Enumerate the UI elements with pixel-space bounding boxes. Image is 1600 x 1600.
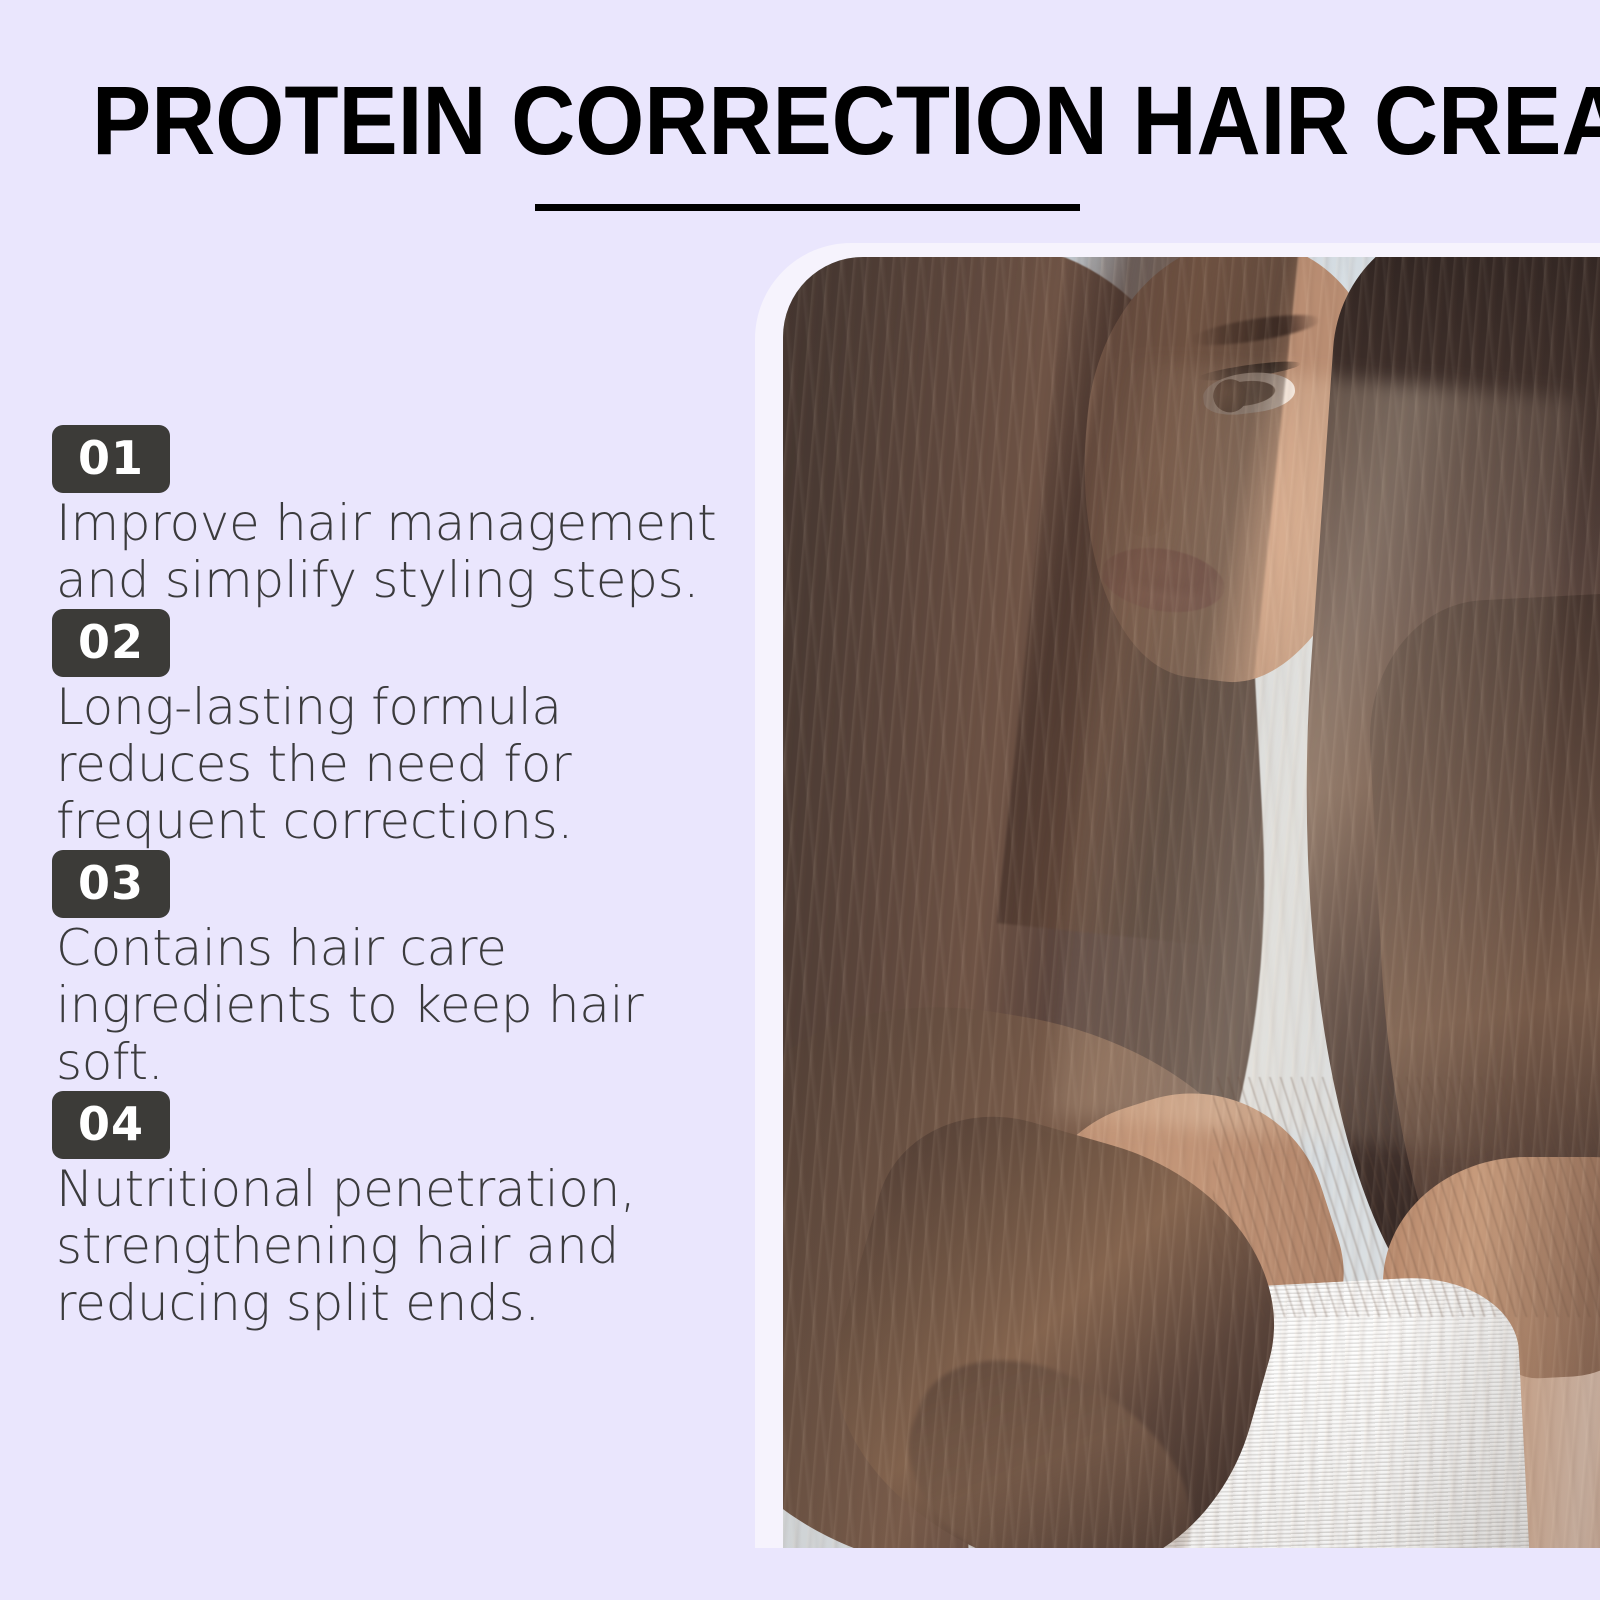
photo-frame: [755, 243, 1600, 1548]
page-title: PROTEIN CORRECTION HAIR CREAM: [92, 72, 1391, 169]
feature-list: 01 Improve hair management and simplify …: [0, 425, 740, 1332]
feature-item: 02 Long-lasting formula reduces the need…: [0, 609, 740, 850]
feature-number-badge: 02: [52, 609, 170, 677]
photo-vignette: [783, 257, 1600, 1548]
feature-number-badge: 04: [52, 1091, 170, 1159]
feature-description: Long-lasting formula reduces the need fo…: [56, 679, 728, 850]
header: PROTEIN CORRECTION HAIR CREAM: [0, 0, 1600, 240]
feature-item: 01 Improve hair management and simplify …: [0, 425, 740, 609]
feature-description: Contains hair care ingredients to keep h…: [56, 920, 728, 1091]
feature-description: Improve hair management and simplify sty…: [56, 495, 728, 609]
model-photo: [783, 257, 1600, 1548]
title-underline-rule: [535, 204, 1080, 211]
feature-item: 03 Contains hair care ingredients to kee…: [0, 850, 740, 1091]
feature-number-badge: 01: [52, 425, 170, 493]
feature-description: Nutritional penetration, strengthening h…: [56, 1161, 728, 1332]
photo-content: [783, 257, 1600, 1548]
feature-number-badge: 03: [52, 850, 170, 918]
feature-item: 04 Nutritional penetration, strengthenin…: [0, 1091, 740, 1332]
